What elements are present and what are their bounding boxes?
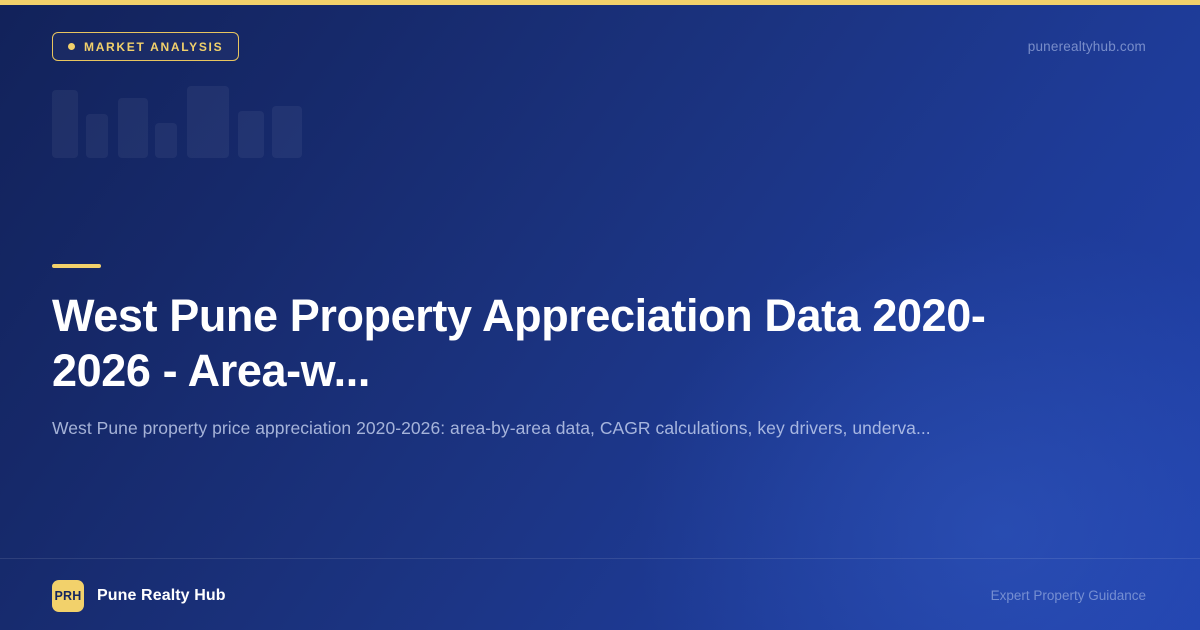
brand-logo-icon: PRH	[52, 580, 84, 612]
brand-name: Pune Realty Hub	[97, 587, 226, 605]
dot-icon	[68, 43, 75, 50]
social-share-card: MARKET ANALYSIS punerealtyhub.com West P…	[0, 0, 1200, 630]
decorative-bar	[187, 86, 229, 158]
decorative-bar	[118, 98, 148, 158]
category-badge: MARKET ANALYSIS	[52, 32, 239, 61]
footer-divider	[0, 558, 1200, 559]
decorative-bar	[238, 111, 264, 158]
decorative-bar	[52, 90, 78, 158]
category-badge-label: MARKET ANALYSIS	[84, 40, 223, 54]
decorative-bar	[86, 114, 108, 158]
brand-lockup: PRH Pune Realty Hub	[52, 580, 226, 612]
decorative-bar-chart	[52, 80, 302, 158]
page-title: West Pune Property Appreciation Data 202…	[52, 288, 1052, 398]
decorative-bar	[155, 123, 177, 158]
brand-tagline: Expert Property Guidance	[991, 588, 1146, 603]
title-divider	[52, 264, 101, 268]
page-description: West Pune property price appreciation 20…	[52, 415, 1082, 441]
decorative-bar	[272, 106, 302, 158]
top-accent-bar	[0, 0, 1200, 5]
site-url: punerealtyhub.com	[1028, 39, 1146, 54]
